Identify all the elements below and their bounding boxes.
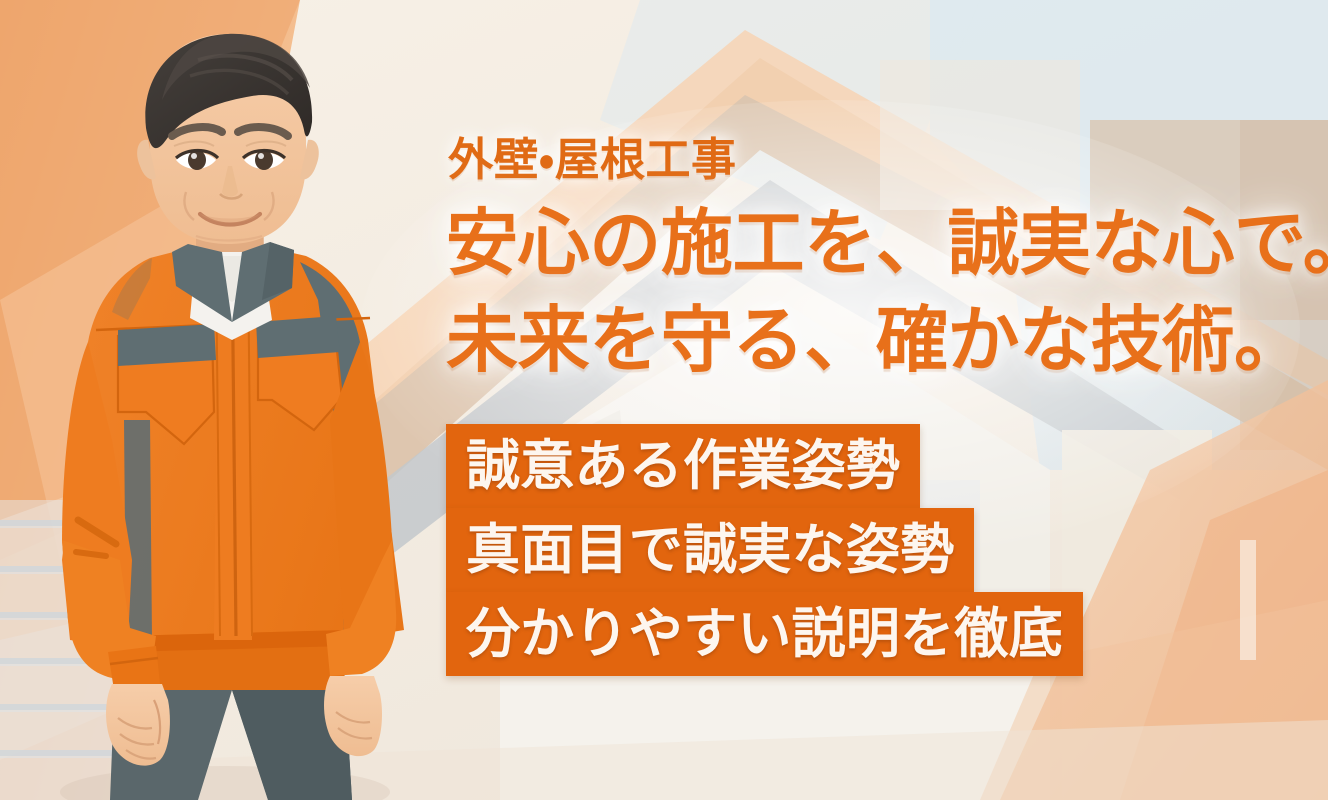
feature-badge-list: 誠意ある作業姿勢 真面目で誠実な姿勢 分かりやすい説明を徹底 — [446, 424, 1083, 676]
eyebrow-label: 外壁・屋根工事 — [448, 123, 736, 188]
hero-content: 外壁・屋根工事 安心の施工を、誠実な心で。 未来を守る、確かな技術。 誠意ある作… — [446, 0, 1306, 800]
headline-line-2: 未来を守る、確かな技術。 — [446, 293, 1306, 390]
headline: 安心の施工を、誠実な心で。 未来を守る、確かな技術。 — [446, 196, 1306, 390]
headline-line-1: 安心の施工を、誠実な心で。 — [446, 196, 1306, 293]
tradesman-illustration — [0, 0, 470, 800]
feature-badge-3: 分かりやすい説明を徹底 — [446, 592, 1083, 676]
badge-row-2: 真面目で誠実な姿勢 — [446, 508, 1083, 592]
badge-row-3: 分かりやすい説明を徹底 — [446, 592, 1083, 676]
feature-badge-1: 誠意ある作業姿勢 — [446, 424, 920, 508]
hero-banner: 外壁・屋根工事 安心の施工を、誠実な心で。 未来を守る、確かな技術。 誠意ある作… — [0, 0, 1328, 800]
feature-badge-2: 真面目で誠実な姿勢 — [446, 508, 974, 592]
badge-row-1: 誠意ある作業姿勢 — [446, 424, 1083, 508]
